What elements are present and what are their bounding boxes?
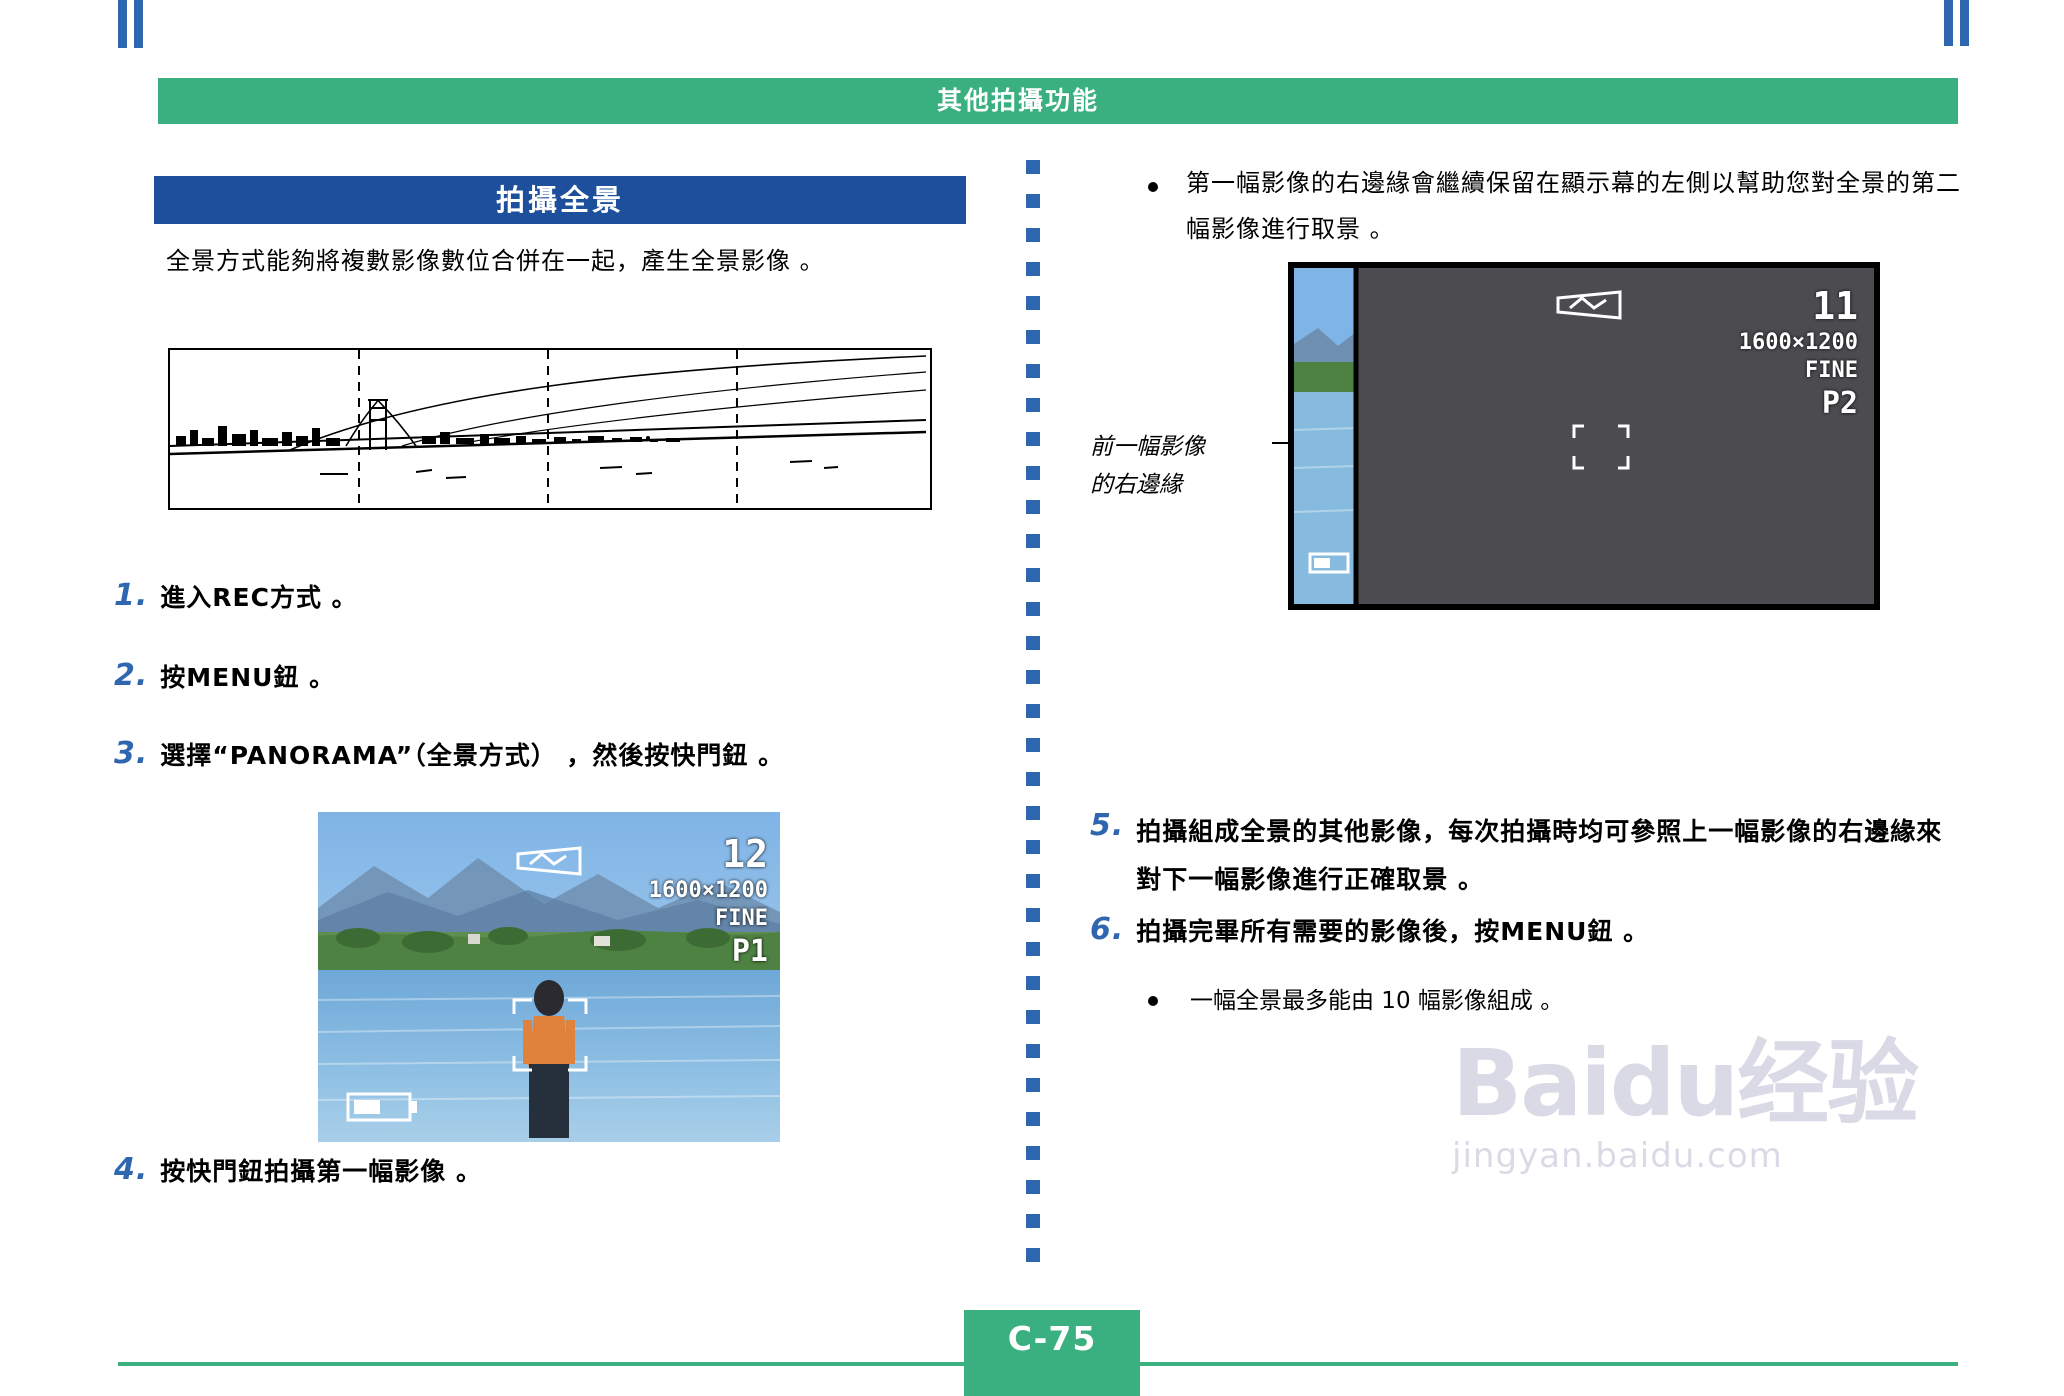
intro-text: 全景方式能夠將複數影像數位合併在一起，產生全景影像 。 (166, 247, 825, 275)
header-tick-right-1 (1944, 0, 1953, 46)
column-divider (1026, 160, 1040, 1260)
step-4-text: 按快門鈕拍攝第一幅影像 。 (160, 1152, 482, 1188)
lcd2-resolution: 1600×1200 (1739, 330, 1858, 355)
step-5-number: 5. (1090, 808, 1124, 843)
step-2-number: 2. (114, 658, 148, 693)
section-header: 拍攝全景 (118, 176, 966, 224)
manual-page: 其他拍攝功能 拍攝全景 全景方式能夠將複數影像數位合併在一起，產生全景影像 。 (0, 0, 2064, 1396)
right-sub-bullet-dot (1148, 996, 1158, 1006)
panorama-illustration (168, 348, 932, 510)
callout-previous-image-edge: 前一幅影像 的右邊緣 (1090, 428, 1290, 504)
lcd1-quality: FINE (715, 906, 768, 931)
step-4: 4.按快門鈕拍攝第一幅影像 。 (114, 1152, 482, 1188)
step-5: 5.拍攝組成全景的其他影像，每次拍攝時均可參照上一幅影像的右邊緣來對下一幅影像進… (1090, 808, 1980, 904)
lcd2-quality: FINE (1805, 358, 1858, 383)
step-6-number: 6. (1090, 912, 1124, 947)
step-4-number: 4. (114, 1152, 148, 1187)
step-1-text: 進入REC方式 。 (160, 578, 357, 614)
right-bullet-dot (1148, 182, 1158, 192)
intro-paragraph: 全景方式能夠將複數影像數位合併在一起，產生全景影像 。 (110, 238, 980, 284)
page-header: 其他拍攝功能 (118, 78, 1958, 124)
lcd2-shot-count: 11 (1812, 284, 1858, 328)
lcd-preview-first-shot: 12 1600×1200 FINE P1 (318, 812, 780, 1142)
section-title: 拍攝全景 (154, 176, 966, 224)
lcd2-mode: P2 (1822, 386, 1858, 421)
step-6-text: 拍攝完畢所有需要的影像後，按MENU鈕 。 (1136, 912, 1649, 948)
step-3: 3.選擇“PANORAMA”（全景方式） ，然後按快門鈕 。 (114, 736, 784, 772)
lcd-preview-second-shot: 11 1600×1200 FINE P2 (1288, 262, 1880, 610)
lcd1-shot-count: 12 (722, 832, 768, 876)
step-1-number: 1. (114, 578, 148, 613)
step-2-text: 按MENU鈕 。 (160, 658, 335, 694)
baidu-watermark: Baidu经验 jingyan.baidu.com (1452, 1032, 1972, 1262)
step-3-text: 選擇“PANORAMA”（全景方式） ，然後按快門鈕 。 (160, 736, 784, 772)
step-1: 1.進入REC方式 。 (114, 578, 358, 614)
right-sub-bullet-text: 一幅全景最多能由 10 幅影像組成 。 (1190, 980, 1990, 1022)
callout-line-2: 的右邊緣 (1090, 466, 1290, 504)
section-tick-2 (134, 0, 143, 48)
footer-page-number: C-75 (964, 1310, 1140, 1368)
callout-line-1: 前一幅影像 (1090, 428, 1290, 466)
header-title: 其他拍攝功能 (118, 78, 1918, 124)
section-tick-1 (118, 0, 127, 48)
lcd1-mode: P1 (732, 934, 768, 969)
watermark-line-2: jingyan.baidu.com (1452, 1136, 1972, 1176)
step-2: 2.按MENU鈕 。 (114, 658, 335, 694)
step-5-text: 拍攝組成全景的其他影像，每次拍攝時均可參照上一幅影像的右邊緣來對下一幅影像進行正… (1136, 808, 1956, 904)
watermark-line-1: Baidu经验 (1452, 1032, 1972, 1136)
lcd1-resolution: 1600×1200 (649, 878, 768, 903)
step-6: 6.拍攝完畢所有需要的影像後，按MENU鈕 。 (1090, 912, 1980, 948)
header-tick-right-2 (1960, 0, 1969, 46)
right-bullet-text: 第一幅影像的右邊緣會繼續保留在顯示幕的左側以幫助您對全景的第二幅影像進行取景 。 (1186, 160, 1976, 252)
step-3-number: 3. (114, 736, 148, 771)
